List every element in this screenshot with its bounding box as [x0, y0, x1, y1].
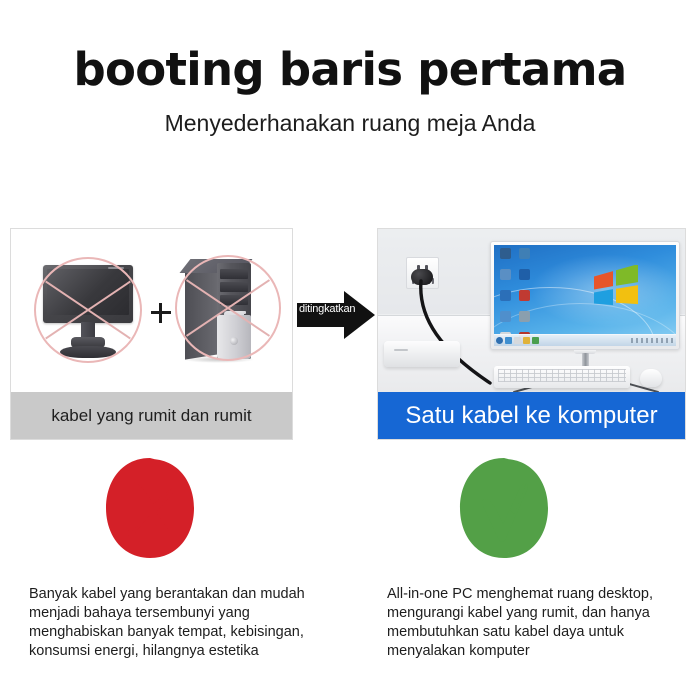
taskbar: [494, 334, 676, 346]
page-title: booting baris pertama: [0, 46, 700, 93]
comparison-band: kabel yang rumit dan rumit ditingkatkan: [0, 218, 700, 440]
taskbar-icon: [514, 337, 521, 344]
system-tray: [631, 338, 673, 343]
taskbar-icon: [523, 337, 530, 344]
desktop-icon: [500, 269, 511, 280]
desk-device-box: [384, 341, 460, 367]
tower-illustration: [181, 253, 275, 371]
start-button-icon: [496, 337, 503, 344]
monitor-illustration: [35, 255, 141, 367]
after-caption: Satu kabel ke komputer: [378, 392, 685, 439]
before-panel: kabel yang rumit dan rumit: [10, 228, 293, 440]
before-caption: kabel yang rumit dan rumit: [11, 392, 292, 439]
before-stage: [11, 229, 292, 392]
before-description: Banyak kabel yang berantakan dan mudah m…: [29, 585, 329, 662]
header: booting baris pertama Menyederhanakan ru…: [0, 46, 700, 137]
upgrade-arrow: ditingkatkan: [297, 290, 375, 340]
keyboard-keys: [498, 369, 626, 382]
taskbar-icon: [532, 337, 539, 344]
after-description: All-in-one PC menghemat ruang desktop, m…: [387, 585, 687, 662]
desk-device-label: [394, 349, 408, 351]
desktop-icon: [519, 248, 530, 259]
after-panel: Satu kabel ke komputer: [377, 228, 686, 440]
desktop-icon: [519, 311, 530, 322]
mouse: [640, 369, 662, 387]
taskbar-icon: [505, 337, 512, 344]
desktop-icon: [519, 269, 530, 280]
page-subtitle: Menyederhanakan ruang meja Anda: [0, 111, 700, 136]
cross-circle-icon: [96, 452, 204, 564]
desktop-icon: [500, 290, 511, 301]
plus-icon: [151, 303, 171, 323]
arrow-label: ditingkatkan: [299, 304, 355, 315]
bottom-copy-row: Banyak kabel yang berantakan dan mudah m…: [0, 570, 700, 680]
desktop-icon: [500, 311, 511, 322]
check-circle-icon: [450, 452, 558, 564]
keyboard: [494, 366, 630, 388]
verdict-row: [0, 452, 700, 564]
desktop-icon: [500, 248, 511, 259]
arrow-right-icon: [297, 290, 375, 340]
aio-screen: [494, 245, 676, 346]
windows-logo-icon: [590, 265, 642, 315]
desktop-icons: [497, 248, 531, 334]
aio-bezel: [490, 241, 680, 350]
after-stage: [378, 229, 685, 392]
desktop-icon: [519, 290, 530, 301]
